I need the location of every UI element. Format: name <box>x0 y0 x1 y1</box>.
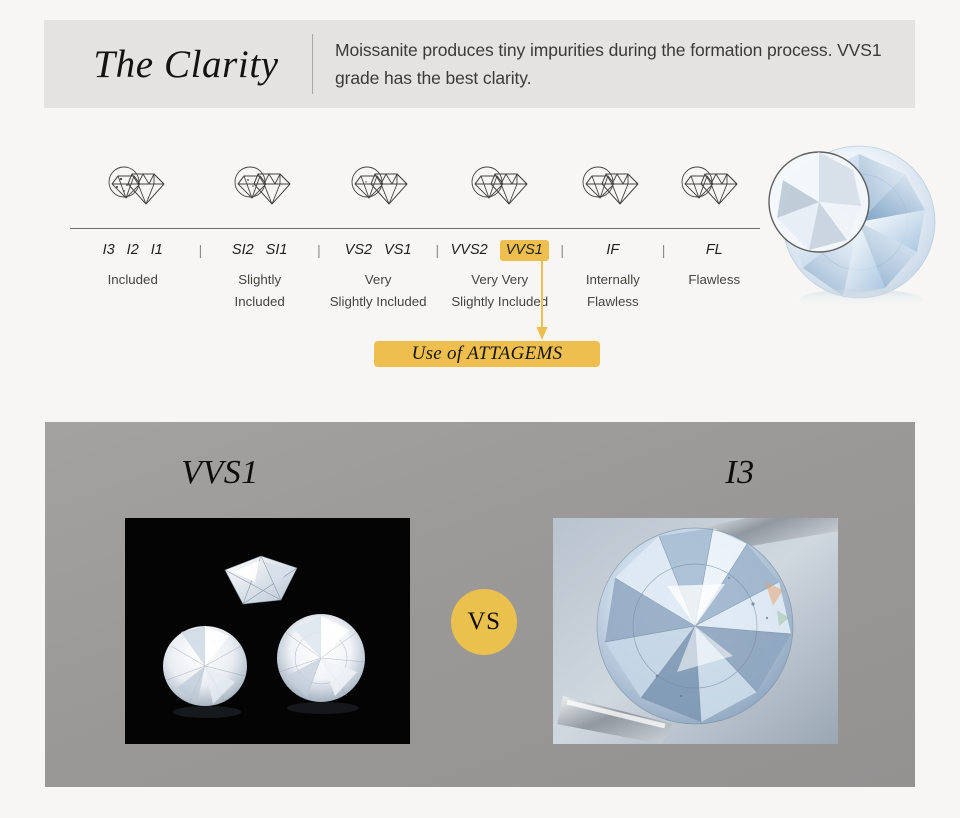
page-title: The Clarity <box>44 45 312 84</box>
grade-i3[interactable]: I3 <box>103 242 115 258</box>
use-of-attagems-label: Use of ATTAGEMS <box>412 343 563 365</box>
grade-labels-row: I3 I2 I1 | SI2 SI1 | VS2 VS1 | VVS2 VVS1… <box>70 240 760 260</box>
diamond-in-tweezers-closeup-photo <box>553 518 838 744</box>
desc-slightly-included: Slightly Included <box>205 269 313 312</box>
clarity-scale: I3 I2 I1 | SI2 SI1 | VS2 VS1 | VVS2 VVS1… <box>70 150 760 312</box>
desc-very-slightly-included: Very Slightly Included <box>324 269 432 312</box>
comparison-heading-left: VVS1 <box>45 454 495 492</box>
diamond-magnifier-icon-fl <box>661 162 760 222</box>
desc-very-line1: Very <box>324 269 432 291</box>
desc-flawless: Flawless <box>669 269 760 291</box>
desc-internally-flawless: Internally Flawless <box>567 269 658 312</box>
header-divider <box>312 34 313 94</box>
grade-separator-3: | <box>432 242 442 258</box>
diamond-magnifier-icon-i <box>70 162 205 222</box>
grade-group-internally-flawless: IF <box>567 242 658 258</box>
desc-slightly-line1: Slightly <box>205 269 313 291</box>
diamond-magnifier-icon-if <box>563 162 662 222</box>
comparison-heading-right: I3 <box>495 454 915 492</box>
grade-i2[interactable]: I2 <box>127 242 139 258</box>
desc-internally-line2: Flawless <box>567 291 658 313</box>
comparison-headings: VVS1 I3 <box>45 454 915 492</box>
diamond-magnifier-icon-si <box>205 162 322 222</box>
scale-divider-line <box>70 228 760 229</box>
grade-vs1[interactable]: VS1 <box>384 242 411 258</box>
versus-label: VS <box>468 608 501 636</box>
grade-separator-2: | <box>314 242 324 258</box>
desc-very-very-line1: Very Very <box>442 269 557 291</box>
desc-very-very-line2: Slightly Included <box>442 291 557 313</box>
use-of-attagems-badge[interactable]: Use of ATTAGEMS <box>374 341 600 367</box>
grade-fl[interactable]: FL <box>706 242 723 258</box>
header-description: Moissanite produces tiny impurities duri… <box>335 36 915 93</box>
desc-slightly-line2: Included <box>205 291 313 313</box>
desc-included-line1: Included <box>70 269 195 291</box>
grade-vs2[interactable]: VS2 <box>345 242 372 258</box>
grade-si1[interactable]: SI1 <box>266 242 288 258</box>
clarity-icon-row <box>70 150 760 222</box>
grade-separator-5: | <box>659 242 669 258</box>
clarity-header-band: The Clarity Moissanite produces tiny imp… <box>44 20 915 108</box>
grade-i1[interactable]: I1 <box>151 242 163 258</box>
grade-vvs1-highlighted[interactable]: VVS1 <box>500 240 549 261</box>
grade-group-included: I3 I2 I1 <box>70 242 195 258</box>
grade-group-very-very-slightly-included: VVS2 VVS1 <box>442 240 557 261</box>
diamond-magnifier-icon-vvs <box>439 162 563 222</box>
grade-vvs2[interactable]: VVS2 <box>451 242 488 258</box>
grade-group-very-slightly-included: VS2 VS1 <box>324 242 432 258</box>
desc-included: Included <box>70 269 195 291</box>
grade-separator-1: | <box>195 242 205 258</box>
three-loose-diamonds-on-black-photo <box>125 518 410 744</box>
grade-si2[interactable]: SI2 <box>232 242 254 258</box>
grade-group-flawless: FL <box>669 242 760 258</box>
clarity-comparison-panel: VVS1 I3 <box>45 422 915 787</box>
versus-badge: VS <box>451 589 517 655</box>
desc-internally-line1: Internally <box>567 269 658 291</box>
grade-group-slightly-included: SI2 SI1 <box>205 242 313 258</box>
desc-flawless-line1: Flawless <box>669 269 760 291</box>
grade-descriptions-row: Included Slightly Included Very Slightly… <box>70 269 760 312</box>
grade-separator-4: | <box>557 242 567 258</box>
desc-very-very-slightly-included: Very Very Slightly Included <box>442 269 557 312</box>
grade-if[interactable]: IF <box>606 242 619 258</box>
desc-very-line2: Slightly Included <box>324 291 432 313</box>
diamond-magnifier-icon-vs <box>322 162 439 222</box>
diamond-with-loupe-photo <box>757 140 952 315</box>
